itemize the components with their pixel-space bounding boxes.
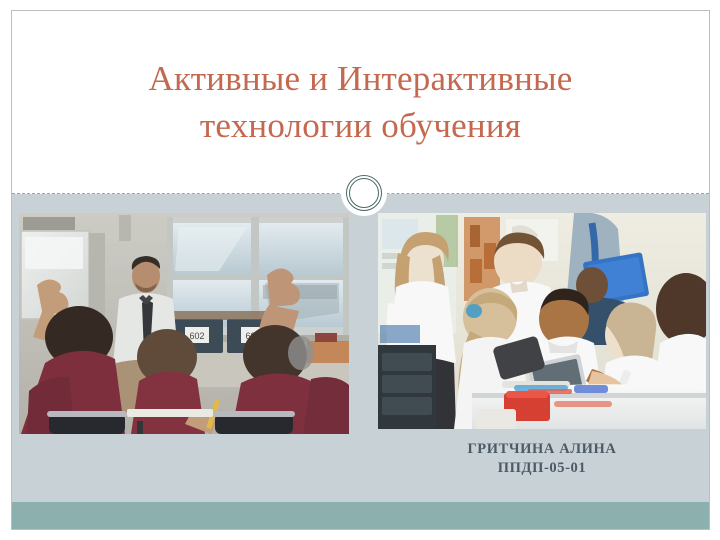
ornament-ring-inner (349, 178, 379, 208)
accent-band (12, 502, 709, 529)
author-group: ППДП-05-01 (378, 459, 706, 478)
group-work-tablets-photo (378, 213, 706, 429)
presentation-slide: Активные и Интерактивные технологии обуч… (0, 0, 720, 540)
classroom-raised-hands-photo: 602 603 (19, 213, 349, 434)
author-name: ГРИТЧИНА АЛИНА (378, 440, 706, 459)
double-ring-circle-icon (341, 170, 387, 216)
page-title: Активные и Интерактивные технологии обуч… (41, 56, 681, 148)
title-area: Активные и Интерактивные технологии обуч… (12, 11, 709, 194)
subtitle-block: ГРИТЧИНА АЛИНА ППДП-05-01 (378, 440, 706, 478)
